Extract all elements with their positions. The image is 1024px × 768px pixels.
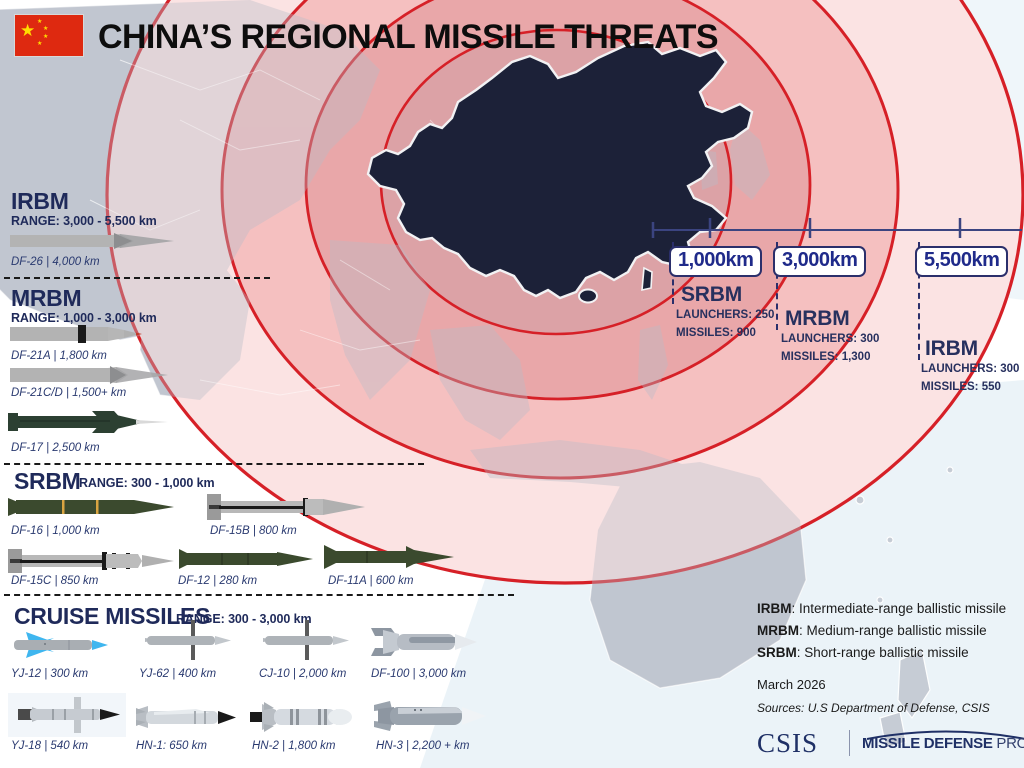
range-scale-bar [648,212,1024,242]
missile-icon-yj-12 [8,628,118,667]
mdp-bold: MISSILE DEFENSE [862,735,993,752]
missile-label-hn-2: HN-2 | 1,800 km [252,740,336,752]
footer-sources: Sources: U.S Department of Defense, CSIS [757,701,990,715]
missile-label-df-21cd: DF-21C/D | 1,500+ km [11,387,126,399]
mdp-wordmark: MISSILE DEFENSE PROJECT [862,735,1024,752]
callout-title-irbm: IRBM [925,337,978,361]
missile-icon-df-16 [6,492,178,527]
missile-label-df-16: DF-16 | 1,000 km [11,525,100,537]
footer-date: March 2026 [757,677,826,692]
category-range-irbm: RANGE: 3,000 - 5,500 km [11,214,157,228]
logo-divider [849,730,850,756]
category-title-irbm: IRBM [11,188,69,215]
missile-label-df-12: DF-12 | 280 km [178,575,257,587]
range-badge-3000km: 3,000km [773,246,866,277]
missile-label-yj-18: YJ-18 | 540 km [11,740,88,752]
range-badge-5500km: 5,500km [915,246,1008,277]
missile-icon-df-15b [205,490,385,529]
missile-label-hn-3: HN-3 | 2,200 + km [376,740,469,752]
missile-icon-yj-62 [135,618,235,667]
page-title: CHINA’S REGIONAL MISSILE THREATS [98,18,718,57]
missile-icon-df-21a [8,322,158,351]
missile-label-yj-62: YJ-62 | 400 km [139,668,216,680]
infographic-root: ★★ ★★ ★ CHINA’S REGIONAL MISSILE THREATS… [0,0,1024,768]
missile-label-df-15c: DF-15C | 850 km [11,575,98,587]
missile-icon-df-100 [365,620,483,669]
range-badge-1000km: 1,000km [669,246,762,277]
missile-label-yj-12: YJ-12 | 300 km [11,668,88,680]
legend-def-mrbm: Medium-range ballistic missile [803,623,987,638]
mdp-normal: PROJECT [993,735,1024,752]
missile-label-df-11a: DF-11A | 600 km [328,575,413,587]
missile-label-df-26: DF-26 | 4,000 km [11,256,100,268]
callout-missiles-mrbm: MISSILES: 1,300 [781,351,870,363]
divider-1 [4,277,270,279]
callout-launchers-mrbm: LAUNCHERS: 300 [781,333,879,345]
callout-missiles-irbm: MISSILES: 550 [921,381,1001,393]
missile-icon-hn-2 [248,698,364,741]
legend-term-irbm: IRBM [757,601,792,616]
missile-icon-cj-10 [255,618,355,667]
callout-launchers-srbm: LAUNCHERS: 250 [676,309,774,321]
category-title-mrbm: MRBM [11,285,81,312]
legend-term-srbm: SRBM [757,645,797,660]
divider-3 [4,594,514,596]
legend-item-mrbm: MRBM: Medium-range ballistic missile [757,623,987,638]
legend-term-mrbm: MRBM [757,623,799,638]
missile-icon-df-11a [322,540,462,579]
legend-def-srbm: Short-range ballistic missile [801,645,969,660]
legend-item-irbm: IRBM: Intermediate-range ballistic missi… [757,601,1006,616]
legend-def-irbm: Intermediate-range ballistic missile [795,601,1006,616]
missile-label-df-17: DF-17 | 2,500 km [11,442,100,454]
csis-wordmark: CSIS [757,728,818,759]
missile-label-df-100: DF-100 | 3,000 km [371,668,466,680]
callout-title-srbm: SRBM [681,283,742,307]
callout-launchers-irbm: LAUNCHERS: 300 [921,363,1019,375]
divider-2 [4,463,424,465]
missile-label-hn-1: HN-1: 650 km [136,740,207,752]
missile-label-df-15b: DF-15B | 800 km [210,525,297,537]
missile-icon-hn-3 [370,695,490,742]
category-range-srbm: RANGE: 300 - 1,000 km [79,476,214,490]
china-flag-icon: ★★ ★★ ★ [14,14,84,57]
callout-missiles-srbm: MISSILES: 900 [676,327,756,339]
missile-label-df-21a: DF-21A | 1,800 km [11,350,107,362]
missile-icon-df-17 [6,407,170,442]
missile-icon-hn-1 [132,700,242,741]
missile-icon-yj-18 [8,693,126,742]
missile-label-cj-10: CJ-10 | 2,000 km [259,668,346,680]
category-title-srbm: SRBM [14,468,81,495]
title-bar: ★★ ★★ ★ CHINA’S REGIONAL MISSILE THREATS [0,0,1024,70]
callout-title-mrbm: MRBM [785,307,850,331]
legend-item-srbm: SRBM: Short-range ballistic missile [757,645,969,660]
